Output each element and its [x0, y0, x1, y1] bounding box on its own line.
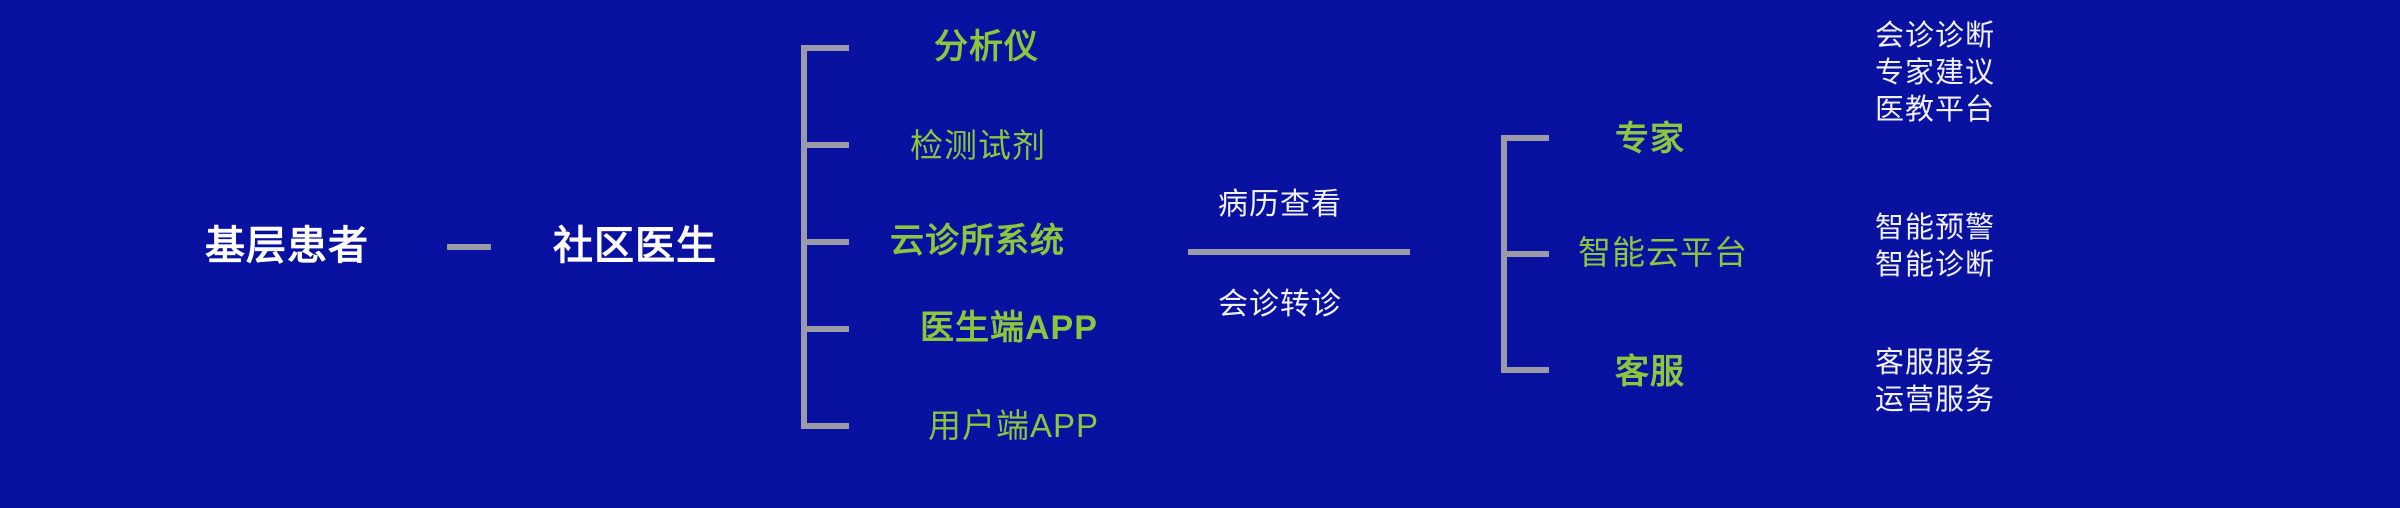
- outcome-line: 智能预警: [1845, 210, 2025, 247]
- bracket-products-tick-2: [801, 142, 849, 148]
- outcome-group-support: 客服服务 运营服务: [1845, 345, 2025, 419]
- service-item-expert: 专家: [1615, 122, 1685, 156]
- product-item-cloud-clinic-system: 云诊所系统: [890, 224, 1065, 258]
- outcome-line: 专家建议: [1845, 55, 2025, 92]
- outcome-group-platform: 智能预警 智能诊断: [1845, 210, 2025, 284]
- product-item-user-app: 用户端APP: [928, 409, 1099, 442]
- service-item-customer-support: 客服: [1615, 355, 1685, 389]
- node-community-doctor: 社区医生: [553, 226, 717, 266]
- flow-divider-line: [1188, 249, 1410, 255]
- outcome-line: 客服服务: [1845, 345, 2025, 382]
- bracket-products-tick-1: [801, 45, 849, 51]
- bracket-products-tick-3: [801, 239, 849, 245]
- product-item-analyzer: 分析仪: [934, 30, 1039, 64]
- product-item-reagent: 检测试剂: [910, 129, 1046, 162]
- flow-label-consult-referral: 会诊转诊: [1218, 290, 1342, 320]
- bracket-products: [801, 45, 849, 429]
- outcome-group-expert: 会诊诊断 专家建议 医教平台: [1845, 18, 2025, 129]
- outcome-line: 运营服务: [1845, 382, 2025, 419]
- outcome-line: 智能诊断: [1845, 247, 2025, 284]
- bracket-products-tick-4: [801, 326, 849, 332]
- bracket-products-spine: [801, 45, 807, 429]
- flow-label-record-view: 病历查看: [1218, 190, 1342, 220]
- outcome-line: 会诊诊断: [1845, 18, 2025, 55]
- product-item-doctor-app: 医生端APP: [920, 311, 1098, 345]
- bracket-services-tick-1: [1501, 135, 1549, 141]
- bracket-products-tick-5: [801, 423, 849, 429]
- bracket-services-tick-3: [1501, 367, 1549, 373]
- bracket-services-tick-2: [1501, 251, 1549, 257]
- service-item-smart-cloud-platform: 智能云平台: [1578, 236, 1748, 269]
- bracket-services: [1501, 135, 1549, 373]
- node-primary-patient: 基层患者: [205, 226, 369, 266]
- outcome-line: 医教平台: [1845, 92, 2025, 129]
- diagram-canvas: 基层患者 社区医生 分析仪 检测试剂 云诊所系统 医生端APP 用户端APP 病…: [0, 0, 2400, 508]
- connector-dash-icon: [447, 244, 491, 250]
